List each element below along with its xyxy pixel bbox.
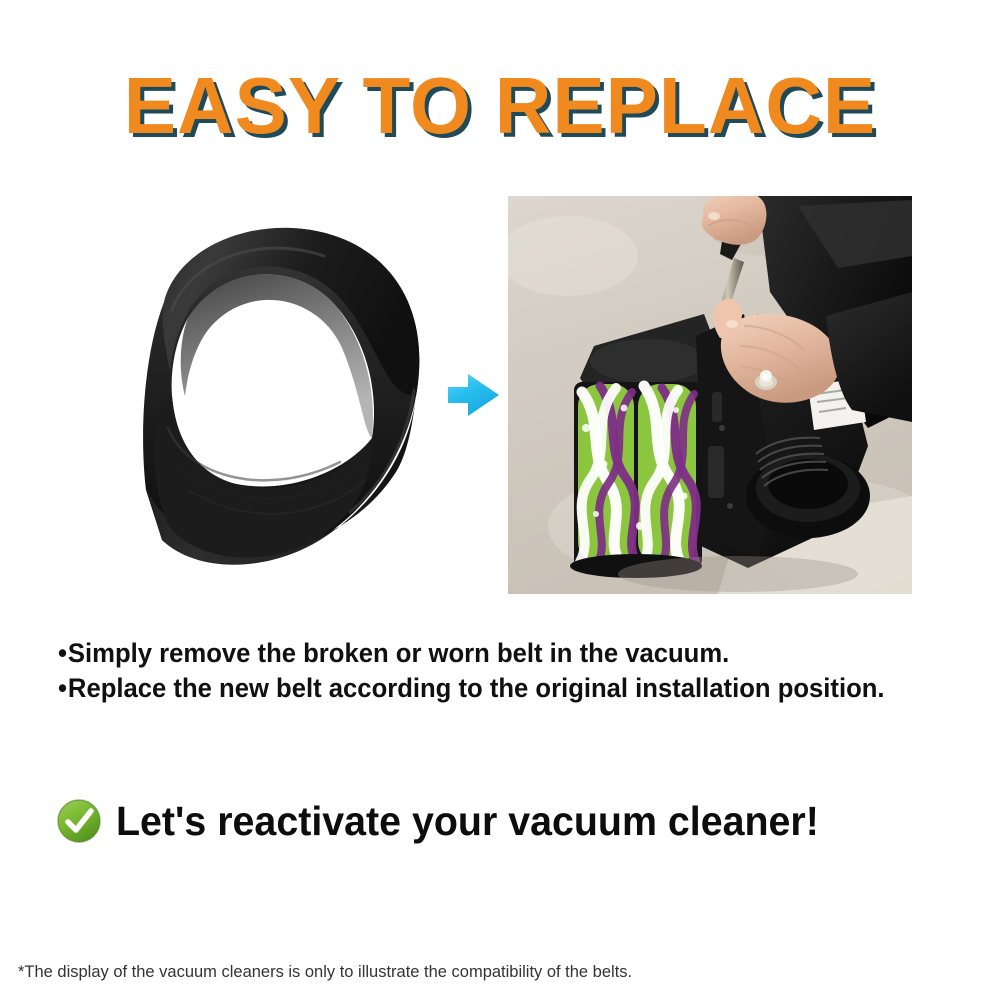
vacuum-repair-photo <box>508 196 912 594</box>
check-circle-icon <box>56 798 102 844</box>
page-title: EASY TO REPLACE <box>10 66 990 146</box>
list-item: •Simply remove the broken or worn belt i… <box>58 636 913 671</box>
instruction-list: •Simply remove the broken or worn belt i… <box>58 636 958 706</box>
belt-product-photo <box>128 190 438 590</box>
list-item: •Replace the new belt according to the o… <box>58 671 913 706</box>
bullet-icon: • <box>58 636 67 671</box>
infographic-page: EASY TO REPLACE <box>0 0 1000 1000</box>
list-item-text: Replace the new belt according to the or… <box>68 673 885 703</box>
tagline: Let's reactivate your vacuum cleaner! <box>56 798 848 844</box>
list-item-text: Simply remove the broken or worn belt in… <box>68 638 729 668</box>
bullet-icon: • <box>58 671 67 706</box>
tagline-text: Let's reactivate your vacuum cleaner! <box>116 798 819 844</box>
right-arrow-icon <box>446 370 502 420</box>
footer-disclaimer: *The display of the vacuum cleaners is o… <box>18 960 632 984</box>
